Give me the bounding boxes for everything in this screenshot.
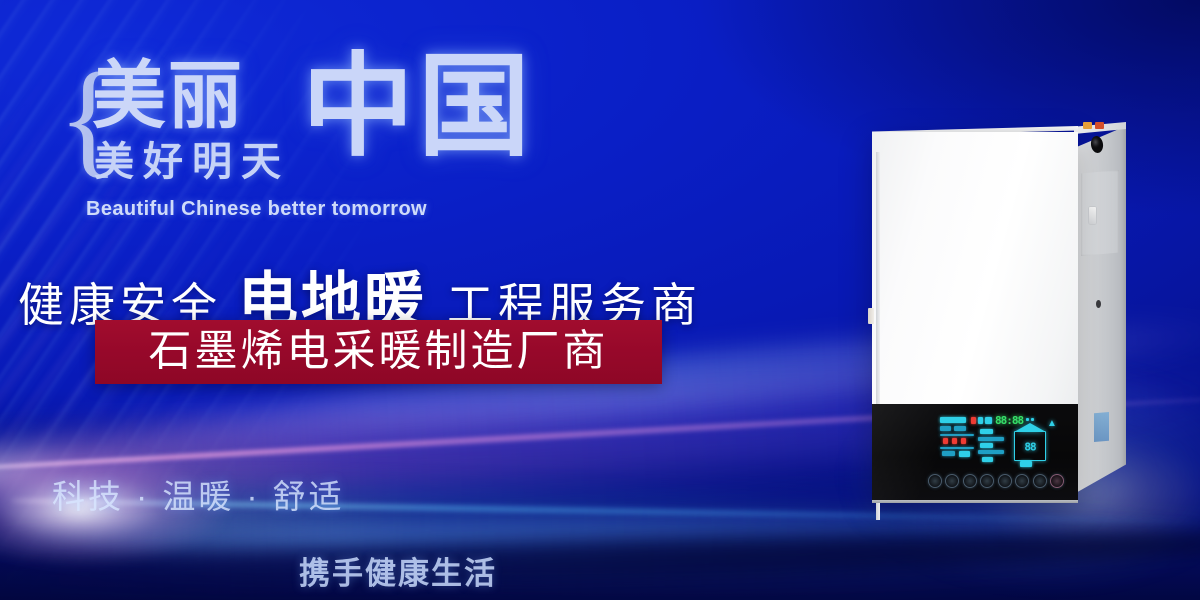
up-button[interactable] <box>963 474 977 488</box>
red-banner-text: 石墨烯电采暖制造厂商 <box>95 331 662 374</box>
product-left-tab <box>868 308 874 324</box>
logo-sub-text: 美好明天 <box>94 142 290 182</box>
lock-button[interactable] <box>1050 474 1064 488</box>
lcd-mid-b <box>980 443 993 448</box>
red-banner: 石墨烯电采暖制造厂商 <box>95 320 662 384</box>
lcd-red-seg-3 <box>961 438 966 444</box>
lcd-label-boiler <box>940 417 966 423</box>
lcd-mid-c <box>982 457 993 462</box>
lcd-label-a <box>940 426 951 431</box>
product-connector-red-icon <box>1095 122 1104 129</box>
house-icon: 88 <box>1014 431 1046 461</box>
panel-touch-buttons[interactable] <box>928 474 1064 487</box>
lcd-indicator-2 <box>978 417 983 424</box>
lcd-box-bottom <box>940 447 974 449</box>
logo-main-text: 美丽 <box>92 60 244 133</box>
lcd-label-b <box>954 426 966 431</box>
wifi-button[interactable] <box>1033 474 1047 488</box>
lcd-small-digits-1 <box>959 451 970 457</box>
product-image-electric-boiler: 88:88 ▲ 88 <box>868 112 1160 504</box>
lcd-dot-2 <box>1031 418 1034 421</box>
lcd-mid-a <box>980 429 993 434</box>
lcd-mid-bar-1 <box>978 437 1004 441</box>
product-side-hole-icon <box>1096 300 1101 308</box>
clock-button[interactable] <box>998 474 1012 488</box>
lcd-red-seg-2 <box>952 438 957 444</box>
lcd-red-seg-1 <box>943 438 948 444</box>
set-button[interactable] <box>1015 474 1029 488</box>
logo-china-text: 中国 <box>302 52 534 164</box>
lcd-mid-bar-2 <box>978 450 1004 454</box>
mode-button[interactable] <box>945 474 959 488</box>
product-side-switch <box>1089 207 1096 224</box>
product-side-vent <box>1094 412 1109 442</box>
brand-logo: { 美丽 美好明天 中国 Beautiful Chinese better to… <box>58 46 488 222</box>
power-button[interactable] <box>928 474 942 488</box>
product-connector-orange-icon <box>1083 122 1092 129</box>
promo-banner: { 美丽 美好明天 中国 Beautiful Chinese better to… <box>0 0 1200 600</box>
lcd-box-top <box>940 434 974 436</box>
lcd-house-temperature: 88 <box>1024 440 1035 453</box>
lcd-indicator-3 <box>985 417 992 424</box>
lcd-red-indicator-1 <box>971 417 976 424</box>
logo-english-text: Beautiful Chinese better tomorrow <box>86 198 427 221</box>
product-side-access-plate <box>1081 170 1119 256</box>
lcd-dot-1 <box>1026 418 1029 421</box>
tagline-primary: 科技 · 温暖 · 舒适 <box>52 470 345 518</box>
lcd-display: 88:88 ▲ 88 <box>940 416 1050 468</box>
tagline-secondary: 携手健康生活 <box>299 548 497 593</box>
lcd-label-c <box>942 451 955 456</box>
down-button[interactable] <box>980 474 994 488</box>
wifi-icon: ▲ <box>1047 418 1056 427</box>
lcd-bottom-digits <box>1020 461 1032 467</box>
product-control-panel: 88:88 ▲ 88 <box>872 404 1078 500</box>
